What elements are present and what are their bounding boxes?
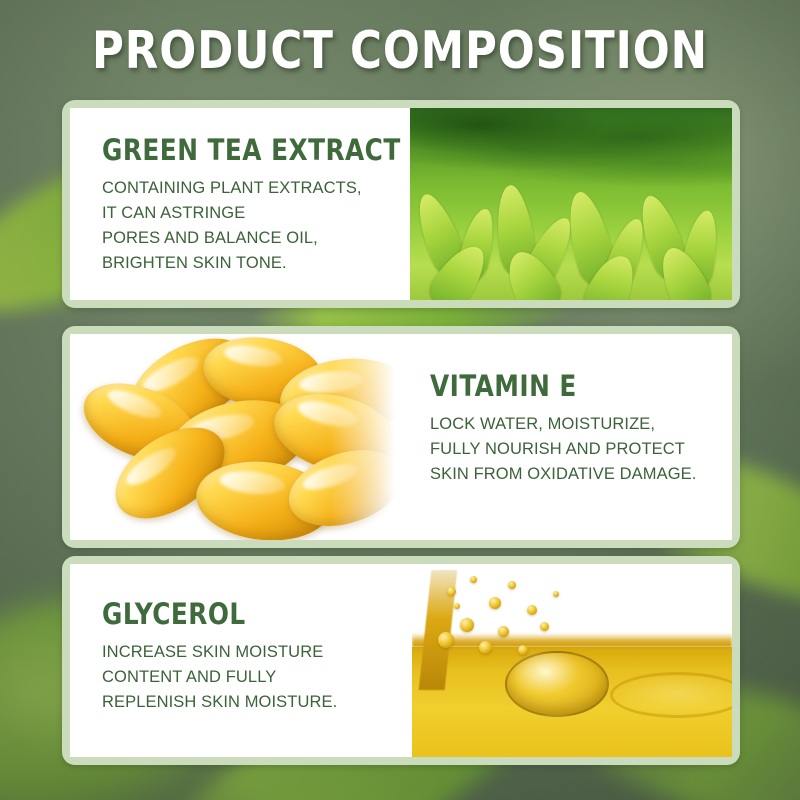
description-line: CONTAINING PLANT EXTRACTS, <box>102 176 392 201</box>
ingredient-heading: VITAMIN E <box>430 370 700 402</box>
card-inner: GLYCEROL INCREASE SKIN MOISTURE CONTENT … <box>70 564 732 757</box>
page-title: PRODUCT COMPOSITION <box>28 22 772 80</box>
description-line: IT CAN ASTRINGE <box>102 201 392 226</box>
card-media-pane <box>70 334 402 540</box>
oil-surface <box>412 633 732 647</box>
description-line: CONTENT AND FULLY <box>102 665 392 690</box>
green-tea-plantation-photo <box>410 108 732 300</box>
ingredient-heading: GREEN TEA EXTRACT <box>102 134 378 166</box>
infographic-page: PRODUCT COMPOSITION GREEN TEA EXTRACT CO… <box>0 0 800 800</box>
description-line: LOCK WATER, MOISTURIZE, <box>430 412 714 437</box>
card-inner: VITAMIN E LOCK WATER, MOISTURIZE, FULLY … <box>70 334 732 540</box>
oil-bubble <box>505 651 609 717</box>
description-line: FULLY NOURISH AND PROTECT <box>430 437 714 462</box>
card-media-pane <box>410 564 732 757</box>
vitamin-e-softgel-capsules-photo <box>70 334 402 540</box>
card-inner: GREEN TEA EXTRACT CONTAINING PLANT EXTRA… <box>70 108 732 300</box>
golden-oil-splash-photo <box>412 564 732 757</box>
ingredient-card-green-tea-extract: GREEN TEA EXTRACT CONTAINING PLANT EXTRA… <box>62 100 740 308</box>
description-line: SKIN FROM OXIDATIVE DAMAGE. <box>430 462 714 487</box>
ingredient-heading: GLYCEROL <box>102 598 378 630</box>
ingredient-description: INCREASE SKIN MOISTURE CONTENT AND FULLY… <box>102 640 392 715</box>
description-line: INCREASE SKIN MOISTURE <box>102 640 392 665</box>
description-line: BRIGHTEN SKIN TONE. <box>102 251 392 276</box>
card-text-pane: GLYCEROL INCREASE SKIN MOISTURE CONTENT … <box>70 564 410 757</box>
ingredient-card-vitamin-e: VITAMIN E LOCK WATER, MOISTURIZE, FULLY … <box>62 326 740 548</box>
card-media-pane <box>410 108 732 300</box>
description-line: PORES AND BALANCE OIL, <box>102 226 392 251</box>
ingredient-description: LOCK WATER, MOISTURIZE, FULLY NOURISH AN… <box>430 412 714 487</box>
card-text-pane: GREEN TEA EXTRACT CONTAINING PLANT EXTRA… <box>70 108 410 300</box>
ingredient-description: CONTAINING PLANT EXTRACTS, IT CAN ASTRIN… <box>102 176 392 276</box>
card-text-pane: VITAMIN E LOCK WATER, MOISTURIZE, FULLY … <box>402 334 732 540</box>
description-line: REPLENISH SKIN MOISTURE. <box>102 690 392 715</box>
ingredient-card-glycerol: GLYCEROL INCREASE SKIN MOISTURE CONTENT … <box>62 556 740 765</box>
